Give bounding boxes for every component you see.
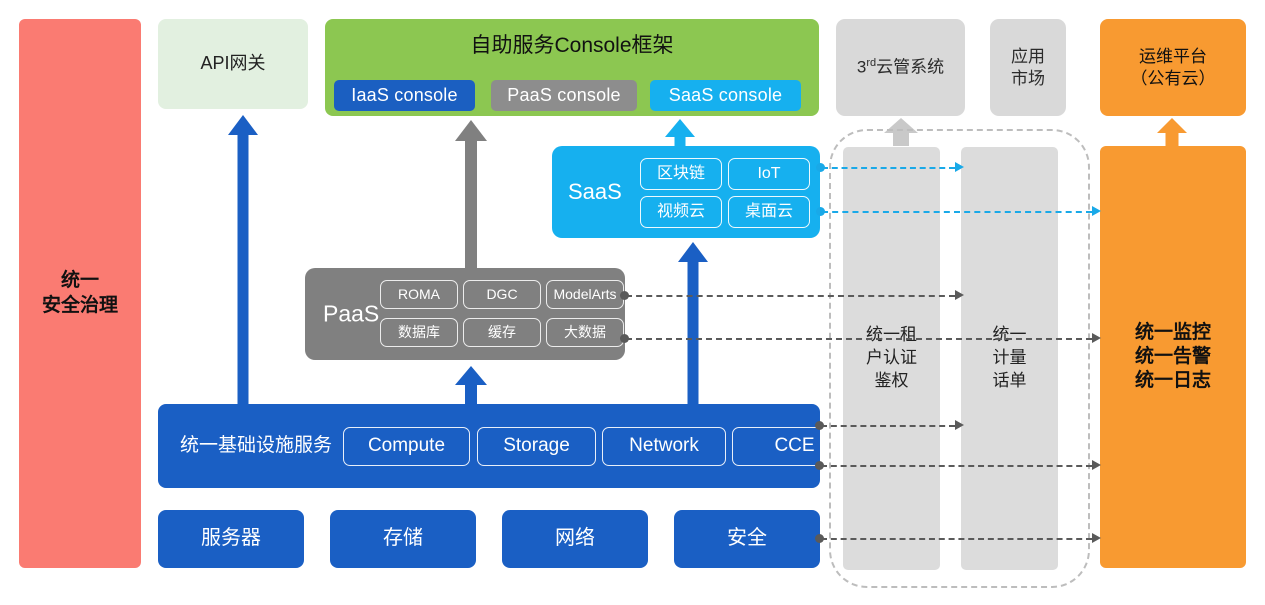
hardware-label-server: 服务器	[201, 526, 261, 552]
arrow-infra-to-api-gateway	[228, 115, 258, 405]
infra-tag-compute[interactable]: Compute	[343, 427, 470, 466]
dashed-line-hardware-to-ops	[821, 538, 1092, 540]
api-gateway-box: API网关	[158, 19, 308, 109]
unified-tenant-auth-label: 统一租 户认证 鉴权	[866, 324, 917, 393]
hardware-box-security: 安全	[674, 510, 820, 568]
self-service-console-frame: 自助服务Console框架 IaaS console PaaS console …	[325, 19, 819, 116]
arrow-paas-to-console	[455, 120, 487, 268]
unified-infrastructure-service-bar: 统一基础设施服务 Compute Storage Network CCE	[158, 404, 820, 488]
infra-tag-network[interactable]: Network	[602, 427, 726, 466]
saas-tag-blockchain[interactable]: 区块链	[640, 158, 722, 190]
infra-bar-label: 统一基础设施服务	[180, 434, 332, 458]
paas-tag-modelarts[interactable]: ModelArts	[546, 280, 624, 309]
ops-platform-label: 运维平台 （公有云）	[1131, 46, 1216, 90]
unified-security-governance-pillar: 统一 安全治理	[19, 19, 141, 568]
dashed-line-saas-to-auth	[822, 167, 955, 169]
third-party-cloud-mgmt-label: 3rd云管系统	[857, 56, 944, 78]
paas-block-label: PaaS	[323, 299, 379, 328]
saas-tag-desktop-cloud[interactable]: 桌面云	[728, 196, 810, 228]
hardware-label-storage: 存储	[383, 526, 423, 552]
dashed-line-paas-to-ops	[626, 338, 1092, 340]
saas-console-chip[interactable]: SaaS console	[650, 80, 801, 111]
saas-block: SaaS 区块链 IoT 视频云 桌面云	[552, 146, 820, 238]
iaas-console-label: IaaS console	[351, 84, 457, 107]
unified-monitoring-label: 统一监控 统一告警 统一日志	[1135, 321, 1211, 394]
dashed-line-infra-to-ops	[821, 465, 1092, 467]
arrowhead-infra-to-auth	[955, 420, 964, 430]
arrowhead-saas-to-ops	[1092, 206, 1101, 216]
unified-monitoring-pillar: 统一监控 统一告警 统一日志	[1100, 146, 1246, 568]
paas-tag-database[interactable]: 数据库	[380, 318, 458, 347]
paas-tag-roma[interactable]: ROMA	[380, 280, 458, 309]
third-party-cloud-mgmt-box: 3rd云管系统	[836, 19, 965, 116]
saas-block-label: SaaS	[568, 178, 622, 206]
hardware-box-storage: 存储	[330, 510, 476, 568]
architecture-diagram: 统一 安全治理 API网关 自助服务Console框架 IaaS console…	[0, 0, 1265, 605]
arrowhead-hardware-to-ops	[1092, 533, 1101, 543]
saas-console-label: SaaS console	[669, 84, 782, 107]
paas-console-chip[interactable]: PaaS console	[491, 80, 637, 111]
hardware-box-server: 服务器	[158, 510, 304, 568]
paas-block: PaaS ROMA DGC ModelArts 数据库 缓存 大数据	[305, 268, 625, 360]
hardware-label-security: 安全	[727, 526, 767, 552]
ops-platform-box: 运维平台 （公有云）	[1100, 19, 1246, 116]
dashed-line-saas-to-ops	[822, 211, 1092, 213]
api-gateway-label: API网关	[200, 52, 265, 75]
console-frame-title: 自助服务Console框架	[325, 33, 819, 60]
unified-security-governance-label: 统一 安全治理	[42, 269, 118, 318]
app-market-label: 应用 市场	[1011, 46, 1045, 90]
hardware-label-network: 网络	[555, 526, 595, 552]
arrow-to-ops-platform	[1157, 118, 1187, 146]
dashed-line-paas-to-auth	[626, 295, 955, 297]
saas-tag-video-cloud[interactable]: 视频云	[640, 196, 722, 228]
iaas-console-chip[interactable]: IaaS console	[334, 80, 475, 111]
saas-tag-iot[interactable]: IoT	[728, 158, 810, 190]
arrowhead-saas-to-auth	[955, 162, 964, 172]
arrowhead-paas-to-ops	[1092, 333, 1101, 343]
arrowhead-infra-to-ops	[1092, 460, 1101, 470]
arrow-infra-to-saas	[678, 242, 708, 405]
paas-tag-cache[interactable]: 缓存	[463, 318, 541, 347]
paas-tag-dgc[interactable]: DGC	[463, 280, 541, 309]
arrow-infra-to-paas	[455, 366, 487, 406]
unified-metering-billing-label: 统一 计量 话单	[993, 324, 1027, 393]
infra-tag-storage[interactable]: Storage	[477, 427, 596, 466]
arrowhead-paas-to-auth	[955, 290, 964, 300]
hardware-box-network: 网络	[502, 510, 648, 568]
app-market-box: 应用 市场	[990, 19, 1066, 116]
dashed-line-infra-to-auth	[821, 425, 955, 427]
paas-console-label: PaaS console	[507, 84, 620, 107]
paas-tag-bigdata[interactable]: 大数据	[546, 318, 624, 347]
